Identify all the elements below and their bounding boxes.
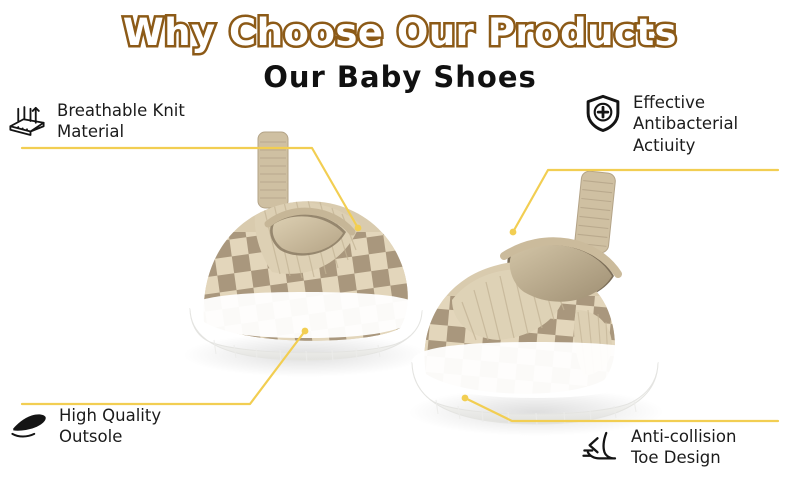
toe-protection-icon <box>580 426 622 468</box>
feature-antibacterial-label: Effective Antibacterial Actiuity <box>633 92 738 156</box>
shield-plus-icon <box>582 92 624 134</box>
page-title-text: Why Choose Our Products <box>123 11 677 54</box>
feature-antibacterial: Effective Antibacterial Actiuity <box>582 92 738 156</box>
page-subtitle: Our Baby Shoes <box>0 60 800 94</box>
heel-pull-tab <box>258 132 288 208</box>
feature-toe-label: Anti-collision Toe Design <box>631 426 736 469</box>
product-image-right-shoe <box>390 160 690 450</box>
feature-outsole-label: High Quality Outsole <box>59 405 161 448</box>
heel-pull-tab <box>574 170 616 253</box>
shoe-sole-icon <box>8 405 50 447</box>
feature-toe: Anti-collision Toe Design <box>580 426 736 469</box>
feature-breathable: Breathable Knit Material <box>6 100 185 143</box>
feature-breathable-label: Breathable Knit Material <box>57 100 185 143</box>
infographic-canvas: Why Choose Our Products Our Baby Shoes <box>0 0 800 494</box>
page-title: Why Choose Our Products <box>0 11 800 54</box>
feature-outsole: High Quality Outsole <box>8 405 161 448</box>
breathable-fabric-icon <box>6 100 48 142</box>
